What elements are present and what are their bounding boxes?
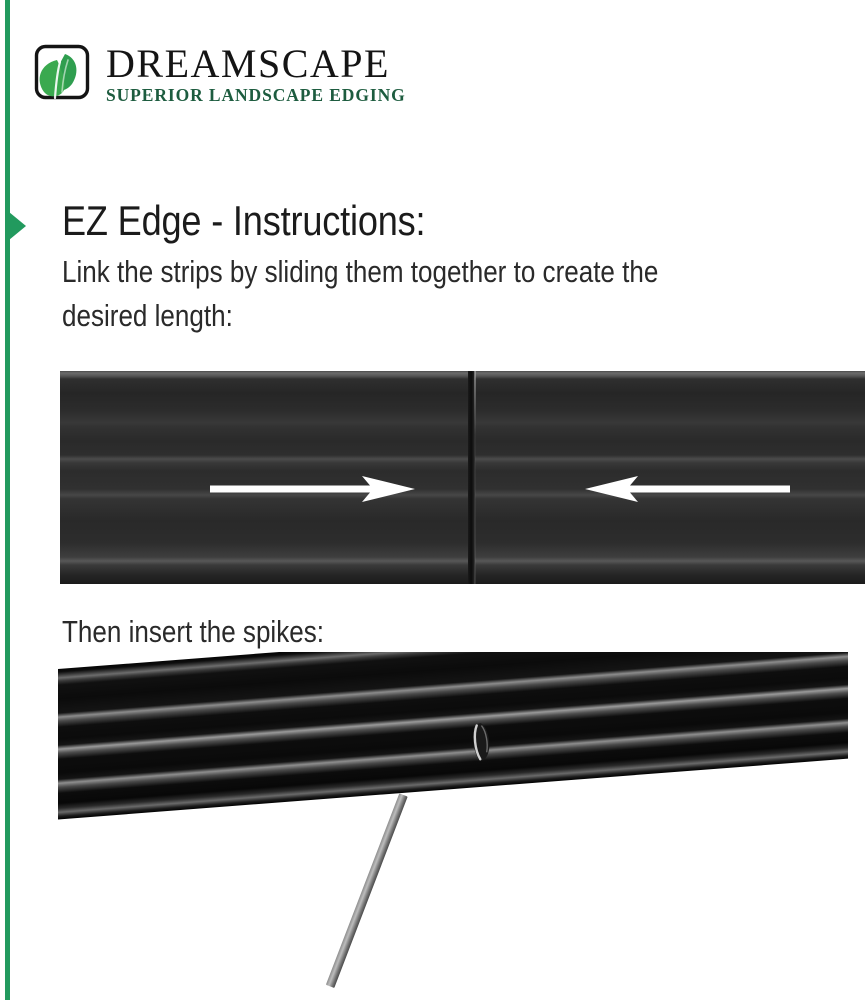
- edging-strip-angled: [58, 652, 848, 820]
- right-triangle-marker-icon: [9, 212, 26, 240]
- left-accent-rule: [5, 0, 10, 1000]
- arrow-left-icon: [585, 476, 790, 502]
- figure-linking-strips: [60, 371, 865, 584]
- strip-seam-highlight: [474, 371, 476, 584]
- brand-header: DREAMSCAPE SUPERIOR LANDSCAPE EDGING: [30, 42, 406, 110]
- instruction-step-two: Then insert the spikes:: [62, 612, 324, 652]
- arrow-right-icon: [210, 476, 415, 502]
- instruction-step-one: Link the strips by sliding them together…: [62, 250, 717, 338]
- spike-hole-icon: [469, 721, 498, 763]
- figure-inserting-spike: [58, 652, 848, 1000]
- two-leaves-in-rounded-square-icon: [30, 42, 92, 104]
- brand-wordmark: DREAMSCAPE SUPERIOR LANDSCAPE EDGING: [106, 42, 406, 105]
- page-title: EZ Edge - Instructions:: [62, 196, 733, 246]
- instructions-block: EZ Edge - Instructions: Link the strips …: [62, 196, 842, 338]
- brand-name: DREAMSCAPE: [106, 44, 406, 84]
- brand-tagline: SUPERIOR LANDSCAPE EDGING: [106, 85, 406, 105]
